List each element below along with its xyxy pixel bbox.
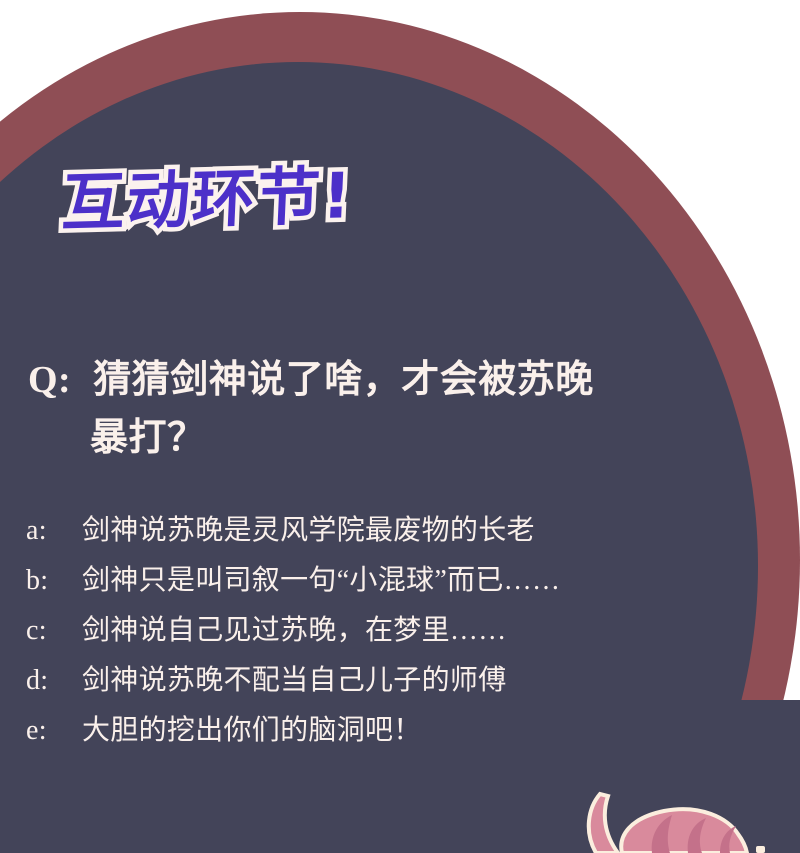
option-d-text: 剑神说苏晚不配当自己儿子的师傅 (82, 658, 507, 698)
option-e[interactable]: e: 大胆的挖出你们的脑洞吧！ (26, 708, 786, 758)
option-b-key: b: (26, 565, 82, 597)
question-text-line-1: 猜猜剑神说了啥，才会被苏晚 (93, 359, 594, 401)
option-c[interactable]: c: 剑神说自己见过苏晚，在梦里…… (26, 608, 786, 658)
interaction-title: 互动环节! (62, 168, 353, 231)
option-b-text: 剑神只是叫司叙一句“小混球”而已…… (82, 558, 560, 598)
interaction-title-text: 互动环节! (60, 164, 354, 235)
question-text-line-2: 暴打？ (90, 417, 206, 459)
hair-strand-left (589, 794, 618, 853)
option-a[interactable]: a: 剑神说苏晚是灵风学院最废物的长老 (26, 508, 786, 558)
option-d-key: d: (26, 665, 82, 697)
question-line-1: Q:猜猜剑神说了啥，才会被苏晚 (28, 352, 768, 410)
option-a-text: 剑神说苏晚是灵风学院最废物的长老 (82, 508, 535, 548)
option-e-text: 大胆的挖出你们的脑洞吧！ (82, 708, 422, 748)
option-a-key: a: (26, 515, 82, 547)
option-b[interactable]: b: 剑神只是叫司叙一句“小混球”而已…… (26, 558, 786, 608)
question-block: Q:猜猜剑神说了啥，才会被苏晚 暴打？ (28, 352, 768, 468)
option-c-key: c: (26, 615, 82, 647)
character-illustration (560, 784, 800, 853)
option-d[interactable]: d: 剑神说苏晚不配当自己儿子的师傅 (26, 658, 786, 708)
option-c-text: 剑神说自己见过苏晚，在梦里…… (82, 608, 507, 648)
answer-options-list: a: 剑神说苏晚是灵风学院最废物的长老 b: 剑神只是叫司叙一句“小混球”而已…… (26, 508, 786, 758)
question-line-2: 暴打？ (28, 410, 768, 468)
option-e-key: e: (26, 715, 82, 747)
comic-interaction-page: 互动环节! Q:猜猜剑神说了啥，才会被苏晚 暴打？ a: 剑神说苏晚是灵风学院最… (0, 0, 800, 853)
question-label: Q: (28, 359, 71, 401)
pink-hair-shape (589, 794, 747, 853)
collar-highlight (756, 846, 765, 853)
